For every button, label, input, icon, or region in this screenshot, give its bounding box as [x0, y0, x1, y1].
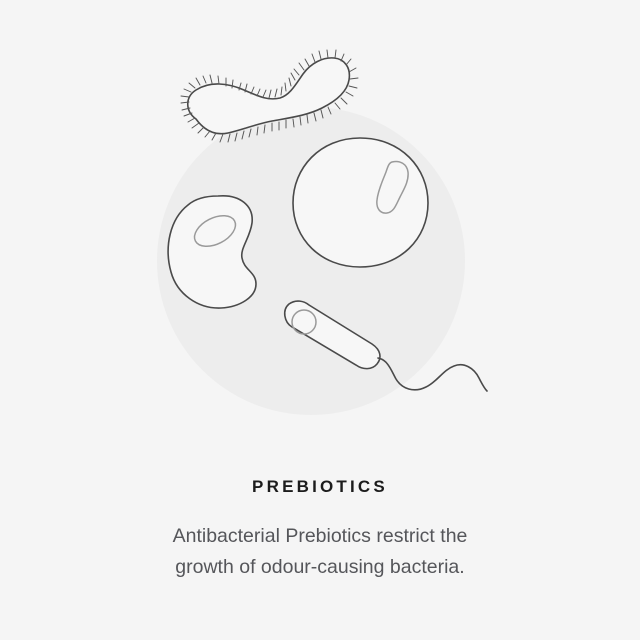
- round-cell-membrane: [293, 138, 428, 267]
- caption-block: PREBIOTICS Antibacterial Prebiotics rest…: [0, 450, 640, 640]
- bacteria-illustration: [0, 0, 640, 450]
- bean-cell: [168, 196, 256, 308]
- illustration-svg: [0, 0, 640, 450]
- caption-line-1: Antibacterial Prebiotics restrict the: [173, 521, 468, 552]
- bean-cell-membrane: [168, 196, 256, 308]
- page-title: PREBIOTICS: [252, 478, 388, 495]
- caption-description: Antibacterial Prebiotics restrict the gr…: [173, 521, 468, 583]
- round-cell: [293, 138, 428, 267]
- prebiotics-card: PREBIOTICS Antibacterial Prebiotics rest…: [0, 0, 640, 640]
- caption-line-2: growth of odour-causing bacteria.: [173, 552, 468, 583]
